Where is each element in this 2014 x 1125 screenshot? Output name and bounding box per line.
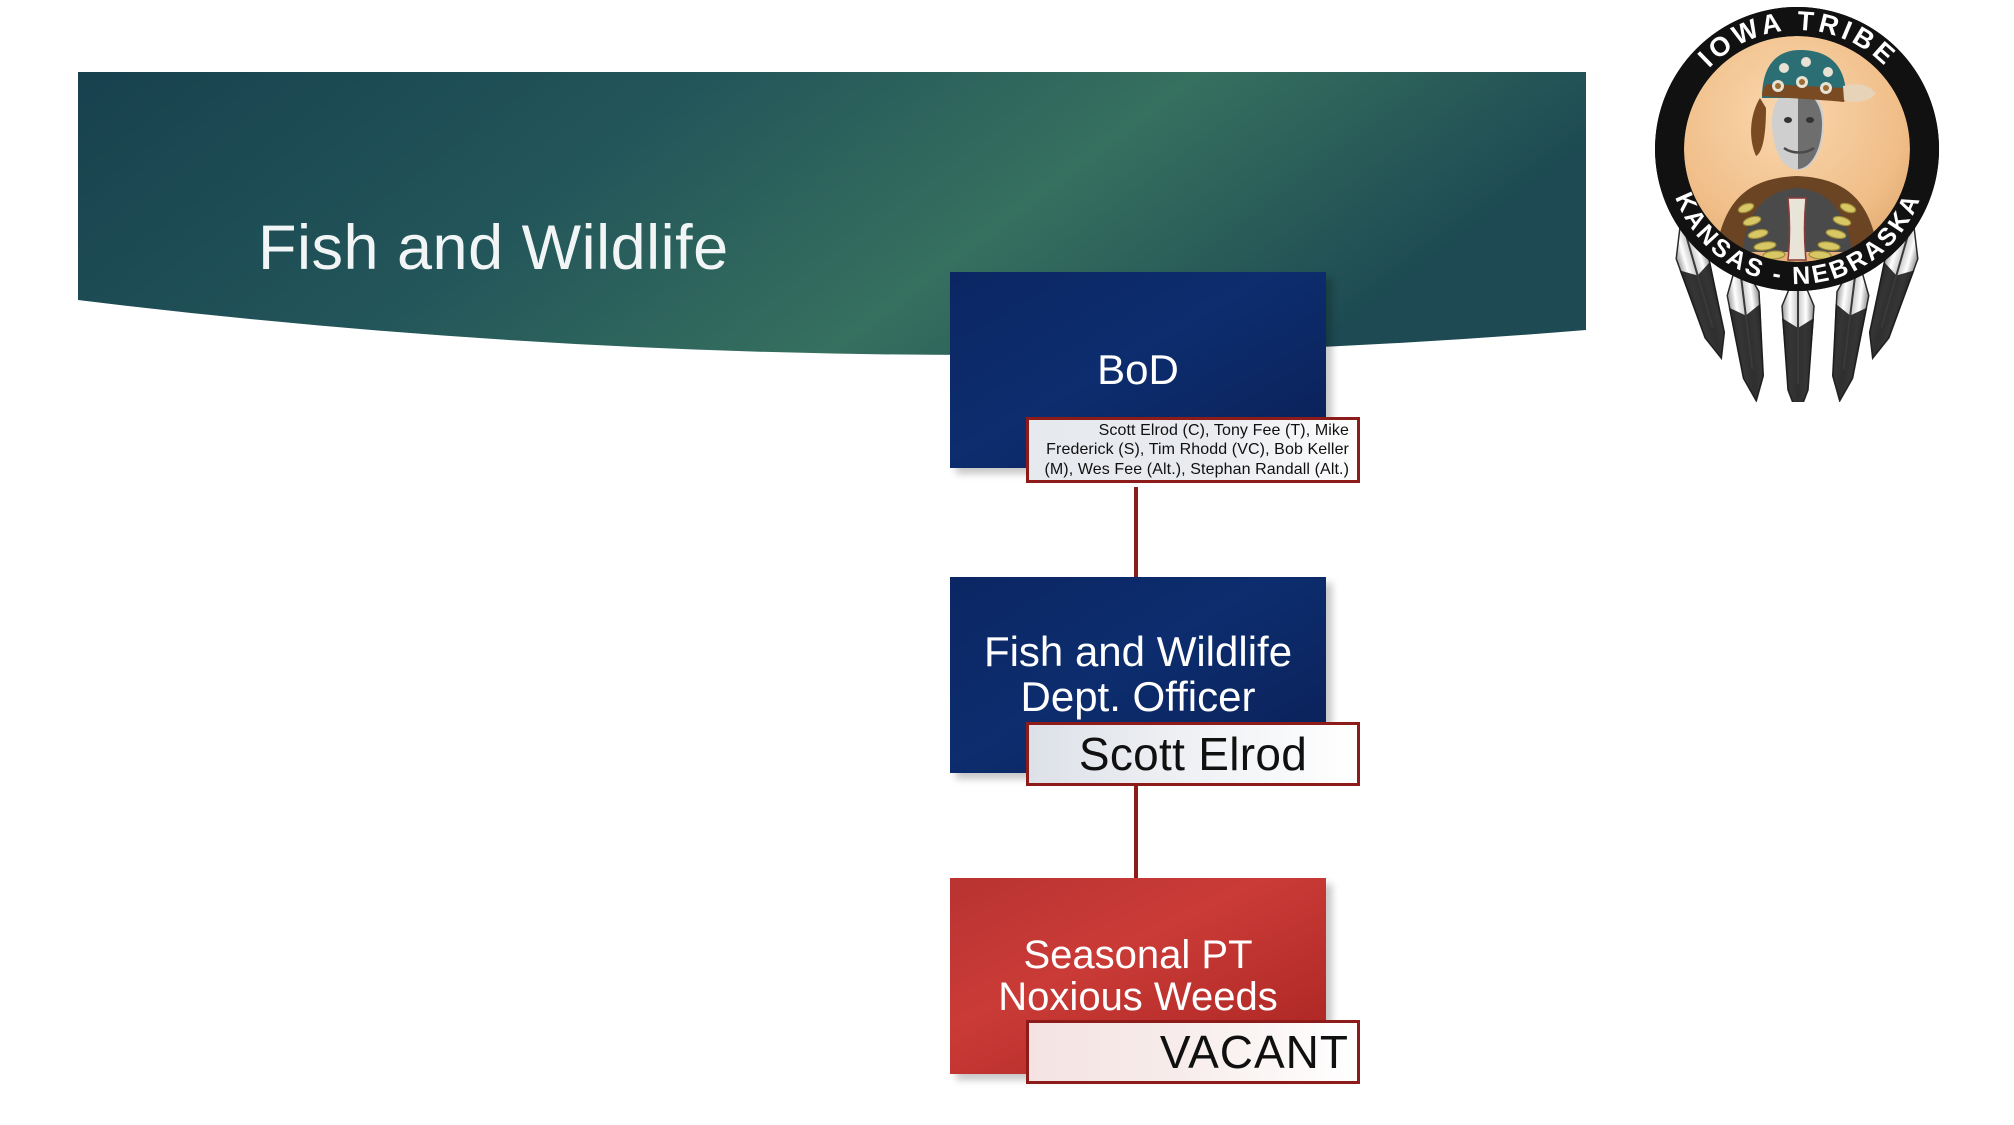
connector-fw-dept-to-seasonal-pt xyxy=(1134,783,1138,882)
node-fw-dept-officer-name-text: Scott Elrod xyxy=(1029,727,1357,781)
connector-bod-to-fw-dept xyxy=(1134,487,1138,577)
node-seasonal-pt-vacant-text: VACANT xyxy=(1029,1025,1357,1079)
node-seasonal-pt-vacant-plate[interactable]: VACANT xyxy=(1026,1020,1360,1084)
node-seasonal-pt-noxious-weeds-label: Seasonal PT Noxious Weeds xyxy=(950,934,1326,1019)
node-bod-label: BoD xyxy=(1087,348,1189,393)
node-bod-roster-plate[interactable]: Scott Elrod (C), Tony Fee (T), Mike Fred… xyxy=(1026,417,1360,483)
org-chart: BoD Scott Elrod (C), Tony Fee (T), Mike … xyxy=(0,0,2014,1125)
node-fw-dept-officer-name-plate[interactable]: Scott Elrod xyxy=(1026,722,1360,786)
node-fw-dept-officer-label: Fish and Wildlife Dept. Officer xyxy=(950,630,1326,719)
node-bod-roster-text: Scott Elrod (C), Tony Fee (T), Mike Fred… xyxy=(1029,421,1357,480)
